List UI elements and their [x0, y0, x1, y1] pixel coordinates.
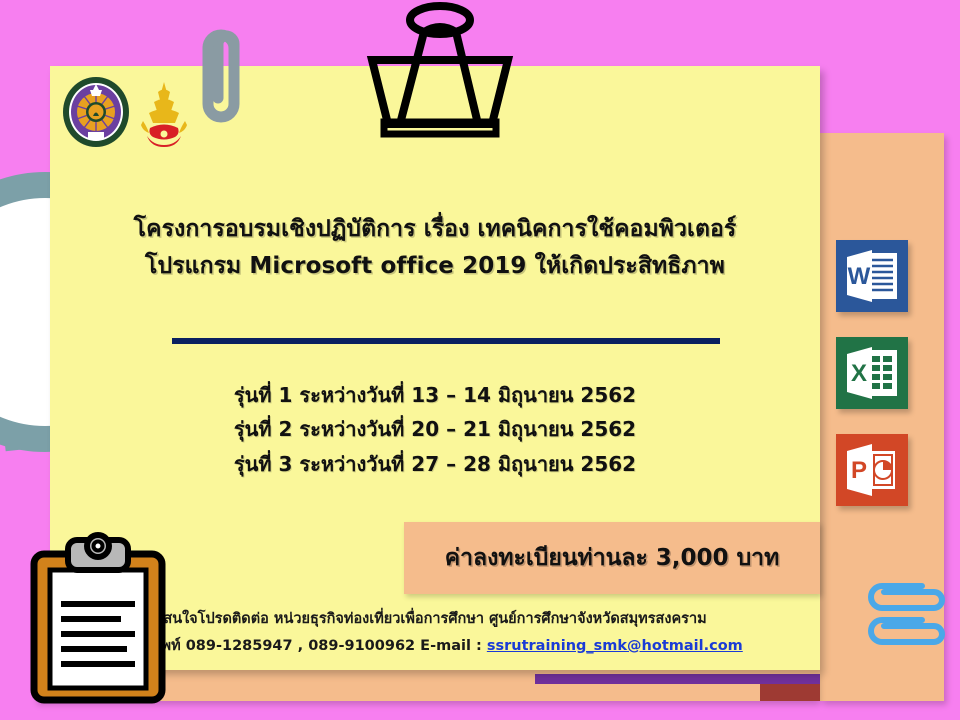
svg-text:P: P [851, 457, 867, 484]
headline-line-1: โครงการอบรมเชิงปฏิบัติการ เรื่อง เทคนิคก… [50, 211, 820, 248]
paperclip-blue-icon [860, 578, 956, 652]
clipboard-icon [28, 532, 168, 704]
session-date-2: รุ่นที่ 2 ระหว่างวันที่ 20 – 21 มิถุนายน… [50, 412, 820, 446]
headline-line-2: โปรแกรม Microsoft office 2019 ให้เกิดประ… [50, 248, 820, 285]
paperclip-gray-icon [186, 14, 256, 138]
session-date-3: รุ่นที่ 3 ระหว่างวันที่ 27 – 28 มิถุนายน… [50, 447, 820, 481]
session-date-1: รุ่นที่ 1 ระหว่างวันที่ 13 – 14 มิถุนายน… [50, 378, 820, 412]
dark-red-accent-block [760, 684, 820, 701]
title-divider [172, 338, 720, 344]
contact-email-link[interactable]: ssrutraining_smk@hotmail.com [487, 638, 743, 654]
registration-fee-box: ค่าลงทะเบียนท่านละ 3,000 บาท [404, 522, 820, 594]
excel-icon: X [836, 337, 908, 409]
page-title: โครงการอบรมเชิงปฏิบัติการ เรื่อง เทคนิคก… [50, 211, 820, 286]
svg-text:X: X [851, 360, 867, 387]
registration-fee-text: ค่าลงทะเบียนท่านละ 3,000 บาท [445, 540, 780, 576]
svg-text:W: W [848, 263, 871, 290]
contact-phone-text: โทรศัพท์ 089-1285947 , 089-9100962 E-mai… [127, 638, 487, 654]
word-icon: W [836, 240, 908, 312]
thai-emblem-icon [134, 80, 194, 148]
purple-accent-bar [535, 674, 820, 684]
powerpoint-icon: P [836, 434, 908, 506]
session-dates: รุ่นที่ 1 ระหว่างวันที่ 13 – 14 มิถุนายน… [50, 378, 820, 481]
binder-clip-icon [360, 2, 520, 144]
poster-canvas: โครงการอบรมเชิงปฏิบัติการ เรื่อง เทคนิคก… [0, 0, 960, 720]
university-seal-icon [62, 76, 130, 148]
